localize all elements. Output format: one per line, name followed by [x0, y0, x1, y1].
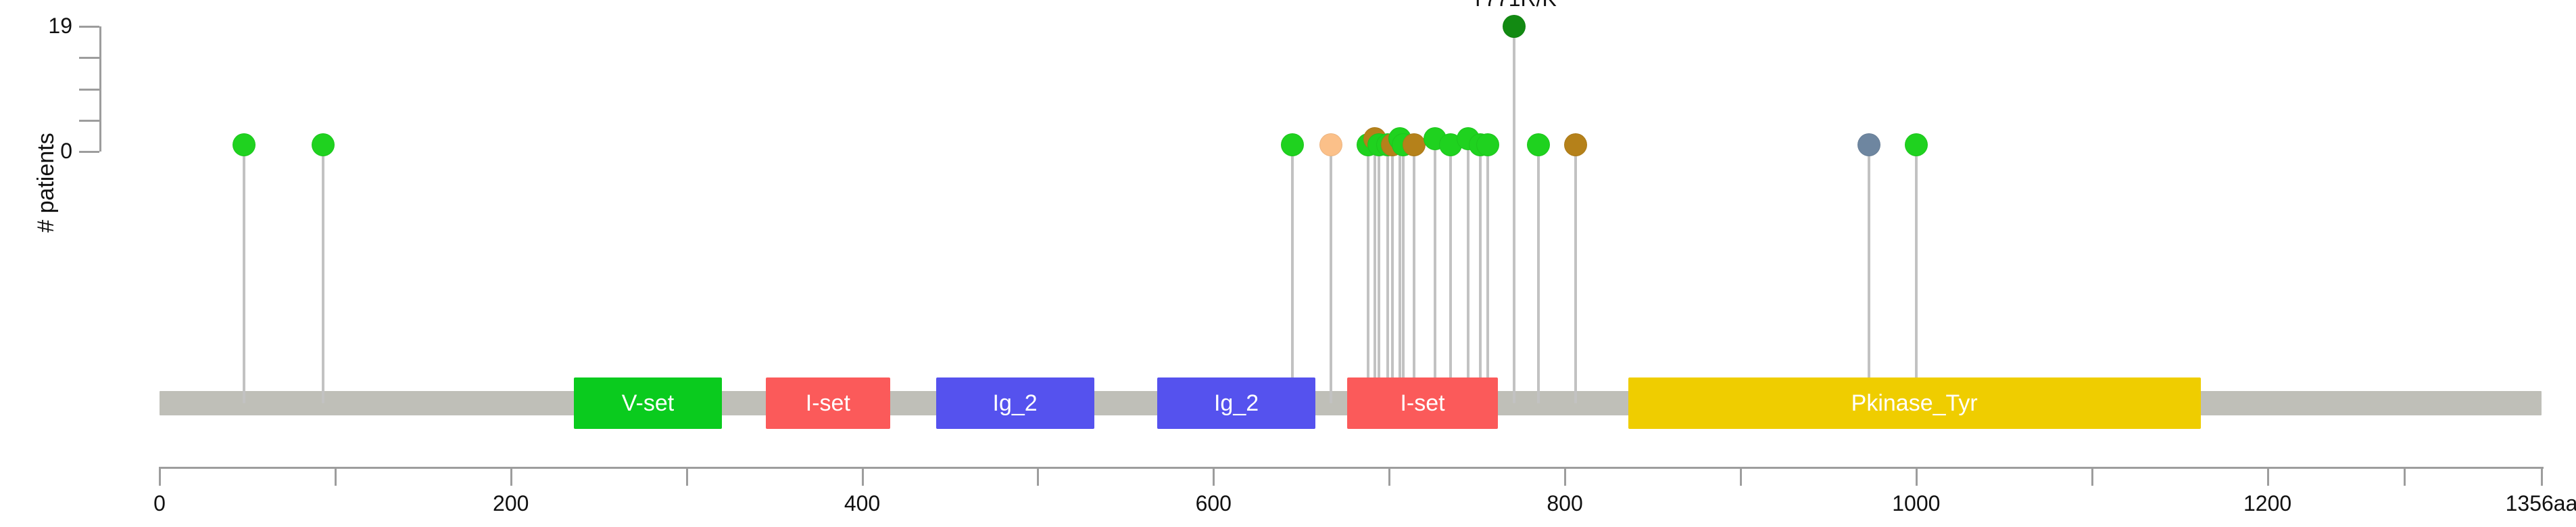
domain-label: I-set [806, 392, 850, 415]
lollipop-stem [243, 145, 245, 403]
domain-label: Ig_2 [993, 392, 1038, 415]
lollipop-stem [1413, 145, 1415, 403]
lollipop-stem [1915, 145, 1918, 403]
y-axis-minor-tick [79, 89, 99, 91]
lollipop-stem [1868, 145, 1870, 403]
lollipop-head[interactable] [312, 133, 335, 156]
lollipop-stem [1330, 145, 1332, 403]
y-axis-major-tick [79, 151, 99, 153]
lollipop-stem [1449, 145, 1452, 403]
x-axis-tick-label: 1200 [2160, 492, 2376, 514]
lollipop-plot: 190# patientsT771R/KV-setI-setIg_2Ig_2I-… [0, 0, 2576, 527]
domain-label: V-set [622, 392, 674, 415]
x-axis-minor-tick [2404, 467, 2406, 486]
lollipop-head[interactable] [1281, 133, 1304, 156]
x-axis-tick [159, 467, 161, 486]
x-axis-tick-label: 1000 [1808, 492, 2024, 514]
x-axis-tick-label: 200 [403, 492, 619, 514]
lollipop-stem [1367, 145, 1369, 403]
domain-pkinase-tyr[interactable]: Pkinase_Tyr [1628, 377, 2201, 429]
domain-label: Pkinase_Tyr [1851, 392, 1978, 415]
lollipop-stem [1574, 145, 1577, 403]
lollipop-head[interactable] [233, 133, 256, 156]
x-axis-minor-tick [1388, 467, 1390, 486]
x-axis-tick-label: 1356aa [2433, 492, 2576, 514]
lollipop-stem [1391, 145, 1394, 403]
domain-label: Ig_2 [1214, 392, 1259, 415]
x-axis-tick [862, 467, 864, 486]
x-axis-tick [1564, 467, 1566, 486]
lollipop-stem [1374, 139, 1376, 403]
y-axis-minor-tick [79, 57, 99, 59]
y-axis-label-wrap: # patients [32, 101, 73, 264]
lollipop-stem [1486, 145, 1489, 403]
y-axis-minor-tick [79, 120, 99, 122]
lollipop-stem [322, 145, 324, 403]
y-axis-label: # patients [32, 101, 59, 264]
domain-ig-2[interactable]: Ig_2 [1157, 377, 1315, 429]
lollipop-stem [1399, 139, 1401, 403]
x-axis-tick-label: 0 [51, 492, 268, 514]
x-axis-minor-tick [1037, 467, 1039, 486]
lollipop-stem [1291, 145, 1294, 403]
x-axis-tick [2541, 467, 2543, 486]
lollipop-stem [1386, 145, 1389, 403]
x-axis-tick [510, 467, 512, 486]
lollipop-stem [1402, 145, 1405, 403]
lollipop-stem [1434, 139, 1436, 403]
y-axis-tick-label: 19 [0, 15, 72, 37]
domain-i-set[interactable]: I-set [1347, 377, 1498, 429]
lollipop-head[interactable] [1527, 133, 1550, 156]
domain-v-set[interactable]: V-set [574, 377, 721, 429]
mutation-label: T771R/K [1379, 0, 1649, 9]
x-axis-minor-tick [686, 467, 688, 486]
x-axis-minor-tick [1740, 467, 1742, 486]
lollipop-stem [1513, 26, 1515, 403]
lollipop-head[interactable] [1319, 133, 1342, 156]
x-axis-tick [1213, 467, 1215, 486]
lollipop-head[interactable] [1503, 15, 1526, 38]
x-axis-tick-label: 400 [754, 492, 971, 514]
x-axis-tick-label: 800 [1457, 492, 1673, 514]
lollipop-head[interactable] [1403, 133, 1426, 156]
x-axis-tick [1916, 467, 1918, 486]
y-axis-major-tick [79, 26, 99, 28]
lollipop-head[interactable] [1564, 133, 1587, 156]
domain-label: I-set [1400, 392, 1444, 415]
lollipop-stem [1467, 139, 1469, 403]
x-axis-line [160, 467, 2544, 469]
lollipop-stem [1479, 145, 1482, 403]
domain-ig-2[interactable]: Ig_2 [936, 377, 1094, 429]
x-axis-minor-tick [335, 467, 337, 486]
y-axis-line [99, 26, 101, 152]
domain-i-set[interactable]: I-set [766, 377, 891, 429]
lollipop-stem [1378, 145, 1380, 403]
lollipop-head[interactable] [1857, 133, 1880, 156]
lollipop-stem [1537, 145, 1540, 403]
x-axis-tick-label: 600 [1105, 492, 1321, 514]
lollipop-head[interactable] [1476, 133, 1499, 156]
x-axis-minor-tick [2091, 467, 2093, 486]
lollipop-head[interactable] [1905, 133, 1928, 156]
x-axis-tick [2267, 467, 2269, 486]
